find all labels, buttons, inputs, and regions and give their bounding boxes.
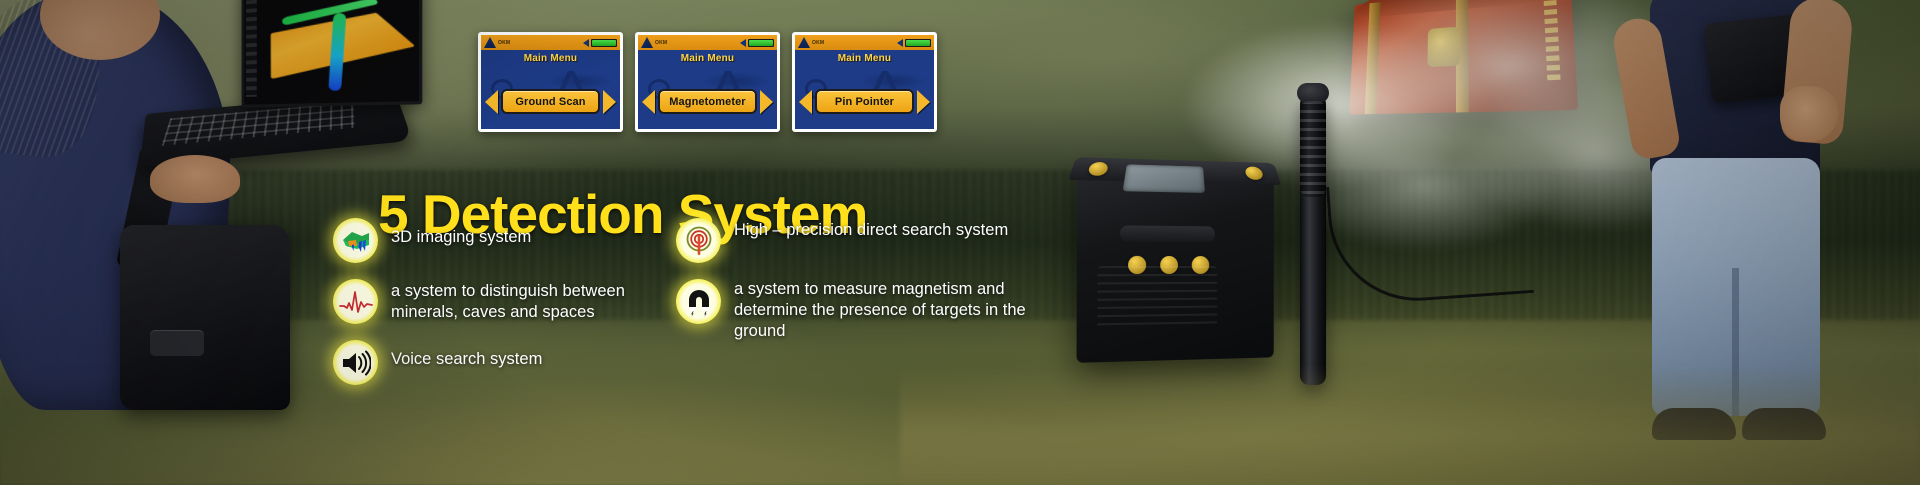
promotional-banner: OKM Main Menu Ground Scan xyxy=(0,0,1920,485)
vignette-overlay xyxy=(0,0,1920,485)
